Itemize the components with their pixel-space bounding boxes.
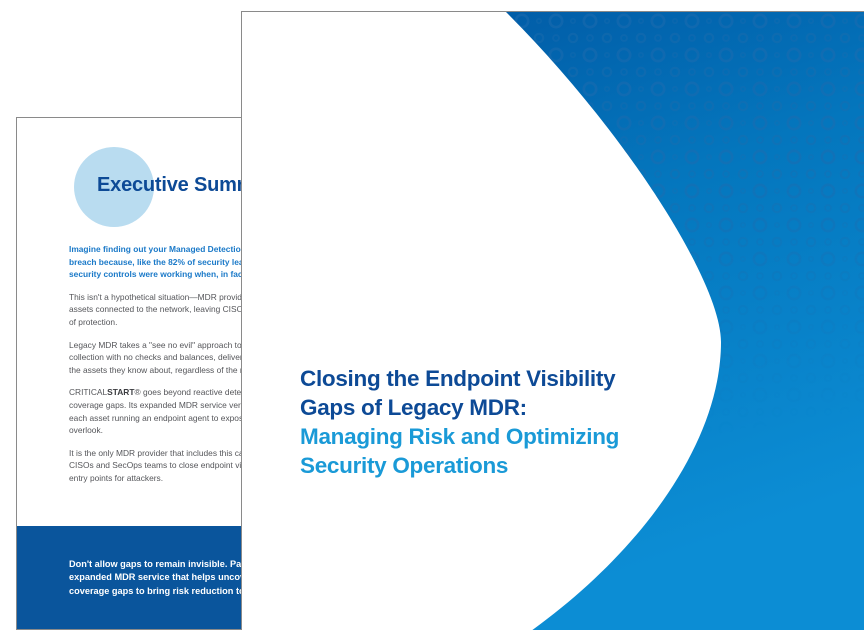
cover-title-line-1: Closing the Endpoint Visibility	[300, 364, 700, 393]
back-page-executive-summary[interactable]: Executive Summary Imagine finding out yo…	[16, 117, 242, 630]
footer-callout-text: Don't allow gaps to remain invisible. Pa…	[69, 558, 242, 598]
body-paragraph-3: CRITICALSTART® goes beyond reactive dete…	[69, 386, 242, 436]
cover-subtitle-line-2: Security Operations	[300, 451, 700, 480]
executive-summary-body: Imagine finding out your Managed Detecti…	[69, 243, 242, 495]
cover-artwork-blue-curve	[241, 12, 864, 630]
cover-title-line-2: Gaps of Legacy MDR:	[300, 393, 700, 422]
lead-paragraph: Imagine finding out your Managed Detecti…	[69, 243, 242, 281]
body-paragraph-4: It is the only MDR provider that include…	[69, 447, 242, 485]
cover-subtitle-line-1: Managing Risk and Optimizing	[300, 422, 700, 451]
front-cover-page[interactable]: Closing the Endpoint Visibility Gaps of …	[241, 11, 864, 630]
body-paragraph-2: Legacy MDR takes a "see no evil" approac…	[69, 339, 242, 377]
cover-title-block: Closing the Endpoint Visibility Gaps of …	[300, 364, 700, 480]
back-page-content: Executive Summary Imagine finding out yo…	[17, 118, 242, 630]
body-paragraph-1: This isn't a hypothetical situation—MDR …	[69, 291, 242, 329]
back-page-footer-band: Don't allow gaps to remain invisible. Pa…	[17, 526, 242, 630]
executive-summary-heading: Executive Summary	[97, 174, 242, 197]
